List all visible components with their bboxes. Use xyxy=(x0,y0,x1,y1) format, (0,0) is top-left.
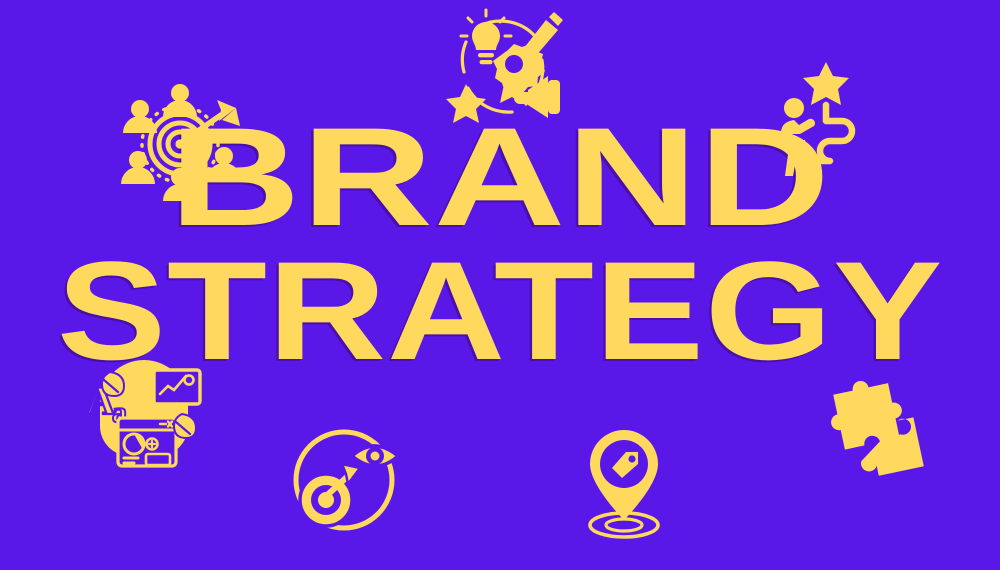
brand-strategy-poster: BRAND STRATEGY xyxy=(0,0,1000,570)
brand-identity-icon: A a xyxy=(82,362,206,474)
vision-mission-icon xyxy=(286,424,408,536)
branding-ideas-icon xyxy=(442,8,574,122)
goal-achievement-icon xyxy=(772,58,880,180)
page-title-line-2: STRATEGY xyxy=(0,252,1000,370)
puzzle-pieces-icon xyxy=(812,368,936,482)
target-audience-icon xyxy=(118,82,246,206)
location-pin-tag-icon xyxy=(568,428,680,540)
